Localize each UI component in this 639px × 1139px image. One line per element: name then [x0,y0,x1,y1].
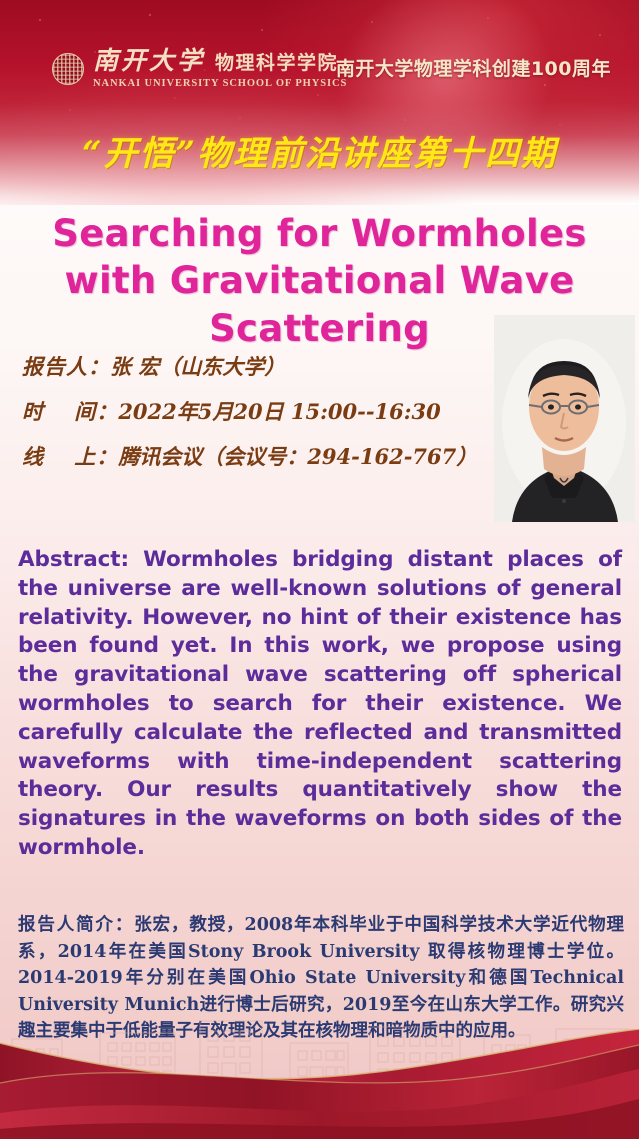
info-row-speaker: 报告人：张 宏（山东大学） [22,356,492,377]
lecture-info-block: 报告人：张 宏（山东大学） 时 间：2022年5月20日 15:00--16:3… [22,356,492,491]
info-row-online: 线 上：腾讯会议（会议号：294-162-767） [22,446,492,467]
info-value-online: 腾讯会议（会议号：294-162-767） [118,444,477,469]
bottom-red-ribbons [0,1029,639,1139]
lecture-series-title: “开悟”物理前沿讲座第十四期 [0,126,639,175]
logo-university-name-cn: 南开大学 [93,48,205,73]
info-row-time: 时 间：2022年5月20日 15:00--16:30 [22,401,492,422]
lecture-poster: 南开大学 物理科学学院 NANKAI UNIVERSITY SCHOOL OF … [0,0,639,1139]
info-value-time: 2022年5月20日 15:00--16:30 [118,399,440,424]
logo-text-group: 南开大学 物理科学学院 NANKAI UNIVERSITY SCHOOL OF … [93,48,347,89]
logo-school-name-cn: 物理科学学院 [215,54,338,73]
info-value-speaker: 张 宏（山东大学） [110,354,285,379]
abstract-text: Abstract: Wormholes bridging distant pla… [18,546,622,863]
info-label-speaker: 报告人： [22,354,110,379]
speaker-photo [494,315,635,522]
logo-university-name-en: NANKAI UNIVERSITY SCHOOL OF PHYSICS [93,78,347,89]
bio-label: 报告人简介： [18,915,134,935]
nankai-logo: 南开大学 物理科学学院 NANKAI UNIVERSITY SCHOOL OF … [52,48,347,89]
anniversary-slogan: 南开大学物理学科创建100周年 [336,54,611,81]
speaker-bio: 报告人简介：张宏，教授，2008年本科毕业于中国科学技术大学近代物理系，2014… [18,912,624,1045]
info-label-online: 线 上： [22,444,118,469]
info-label-time: 时 间： [22,399,118,424]
nankai-seal-icon [52,53,84,85]
